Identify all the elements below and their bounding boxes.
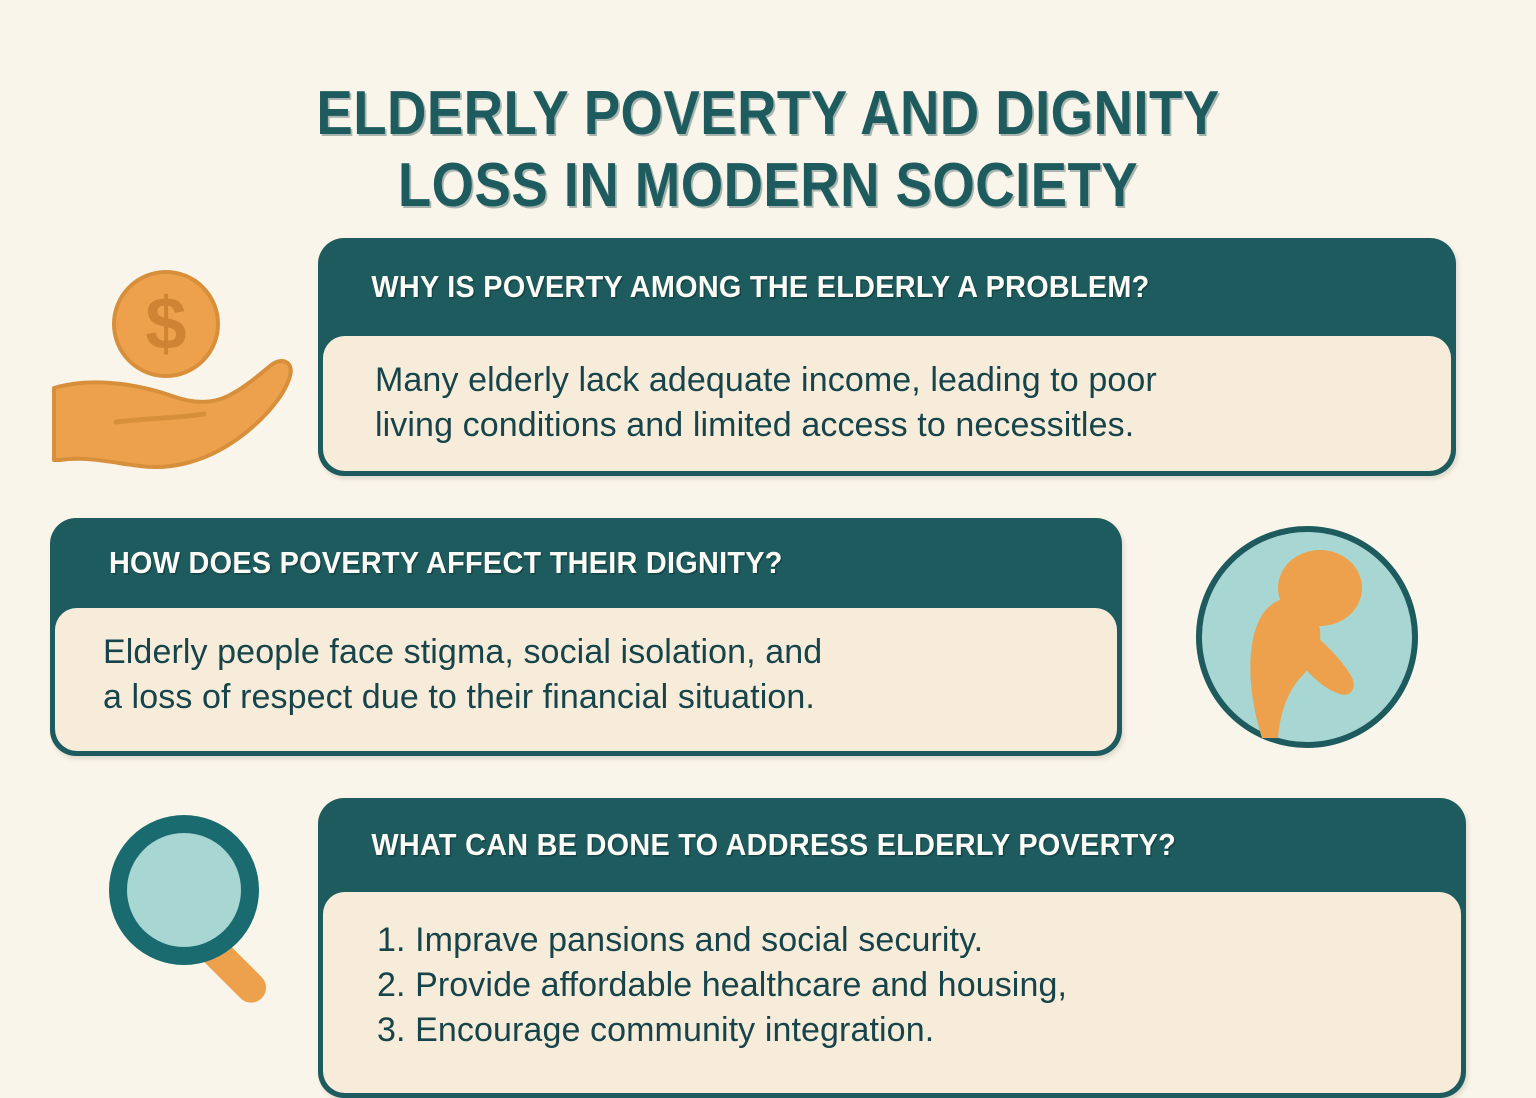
magnifying-glass-icon [54, 804, 296, 1024]
elderly-person-icon [1194, 524, 1420, 750]
svg-text:$: $ [145, 282, 186, 365]
card-header-title: HOW DOES POVERTY AFFECT THEIR DIGNITY? [55, 518, 1043, 608]
card-why-poverty-problem: WHY IS POVERTY AMONG THE ELDERLY A PROBL… [318, 238, 1456, 476]
card-header-title: WHY IS POVERTY AMONG THE ELDERLY A PROBL… [323, 238, 1372, 336]
card-body-text: Many elderly lack adequate income, leadi… [323, 336, 1451, 471]
hand-holding-coin-icon: $ [44, 252, 300, 478]
card-body-text: 1. Imprave pansions and social security.… [323, 892, 1461, 1093]
card-poverty-affect-dignity: HOW DOES POVERTY AFFECT THEIR DIGNITY? E… [50, 518, 1122, 756]
card-header-title: WHAT CAN BE DONE TO ADDRESS ELDERLY POVE… [323, 798, 1381, 892]
page-title: ELDERLY POVERTY AND DIGNITY LOSS IN MODE… [92, 78, 1444, 223]
card-body-text: Elderly people face stigma, social isola… [55, 608, 1117, 751]
card-what-can-be-done: WHAT CAN BE DONE TO ADDRESS ELDERLY POVE… [318, 798, 1466, 1098]
